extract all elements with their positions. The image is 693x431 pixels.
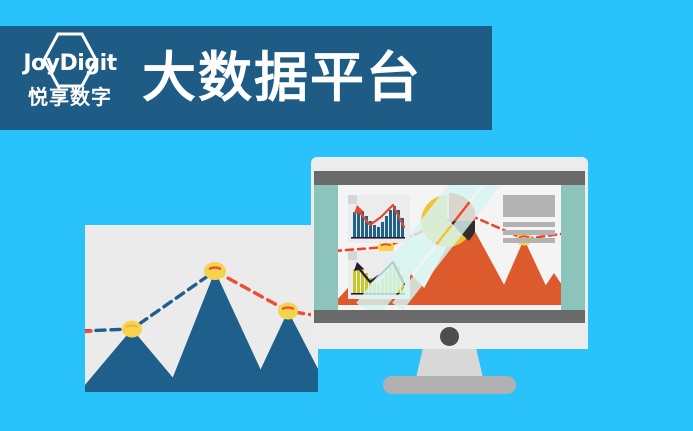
screen-band-right — [561, 185, 585, 310]
page-title: 大数据平台 — [142, 51, 422, 105]
trend-line — [357, 205, 404, 227]
logo-wordmark: JoyDigit — [23, 53, 116, 75]
doc-line — [503, 230, 555, 235]
doc-header — [503, 195, 555, 217]
trend-line-red-stub — [85, 331, 91, 332]
blue-mountain-svg — [85, 225, 318, 392]
screen-band-left — [314, 185, 338, 310]
data-marker — [278, 303, 298, 320]
monitor-base — [383, 376, 516, 394]
header-banner: JoyDigit 悦享数字 大数据平台 — [0, 26, 492, 130]
doc-line — [503, 222, 555, 227]
monitor-screen — [314, 185, 585, 310]
monitor-stand — [416, 349, 483, 378]
doc-line — [503, 238, 555, 243]
desktop-monitor — [311, 157, 588, 395]
logo-subtitle: 悦享数字 — [28, 88, 112, 108]
blue-mountain-chart — [85, 225, 318, 392]
data-marker — [122, 321, 142, 338]
document-block — [503, 195, 561, 241]
power-button[interactable] — [440, 327, 459, 346]
brand-logo: JoyDigit 悦享数字 — [14, 30, 126, 126]
mountain-shape-right — [250, 311, 318, 392]
mountain-shape-left — [85, 329, 185, 392]
monitor-bottom-bar — [314, 310, 585, 323]
mountain-shape-center — [167, 271, 271, 392]
bar-chart-blue — [348, 195, 410, 243]
monitor-top-bar — [314, 171, 585, 185]
data-marker — [204, 262, 226, 280]
poster-canvas: JoyDigit 悦享数字 大数据平台 — [0, 0, 693, 431]
bar-chart-blue-card — [348, 195, 410, 243]
